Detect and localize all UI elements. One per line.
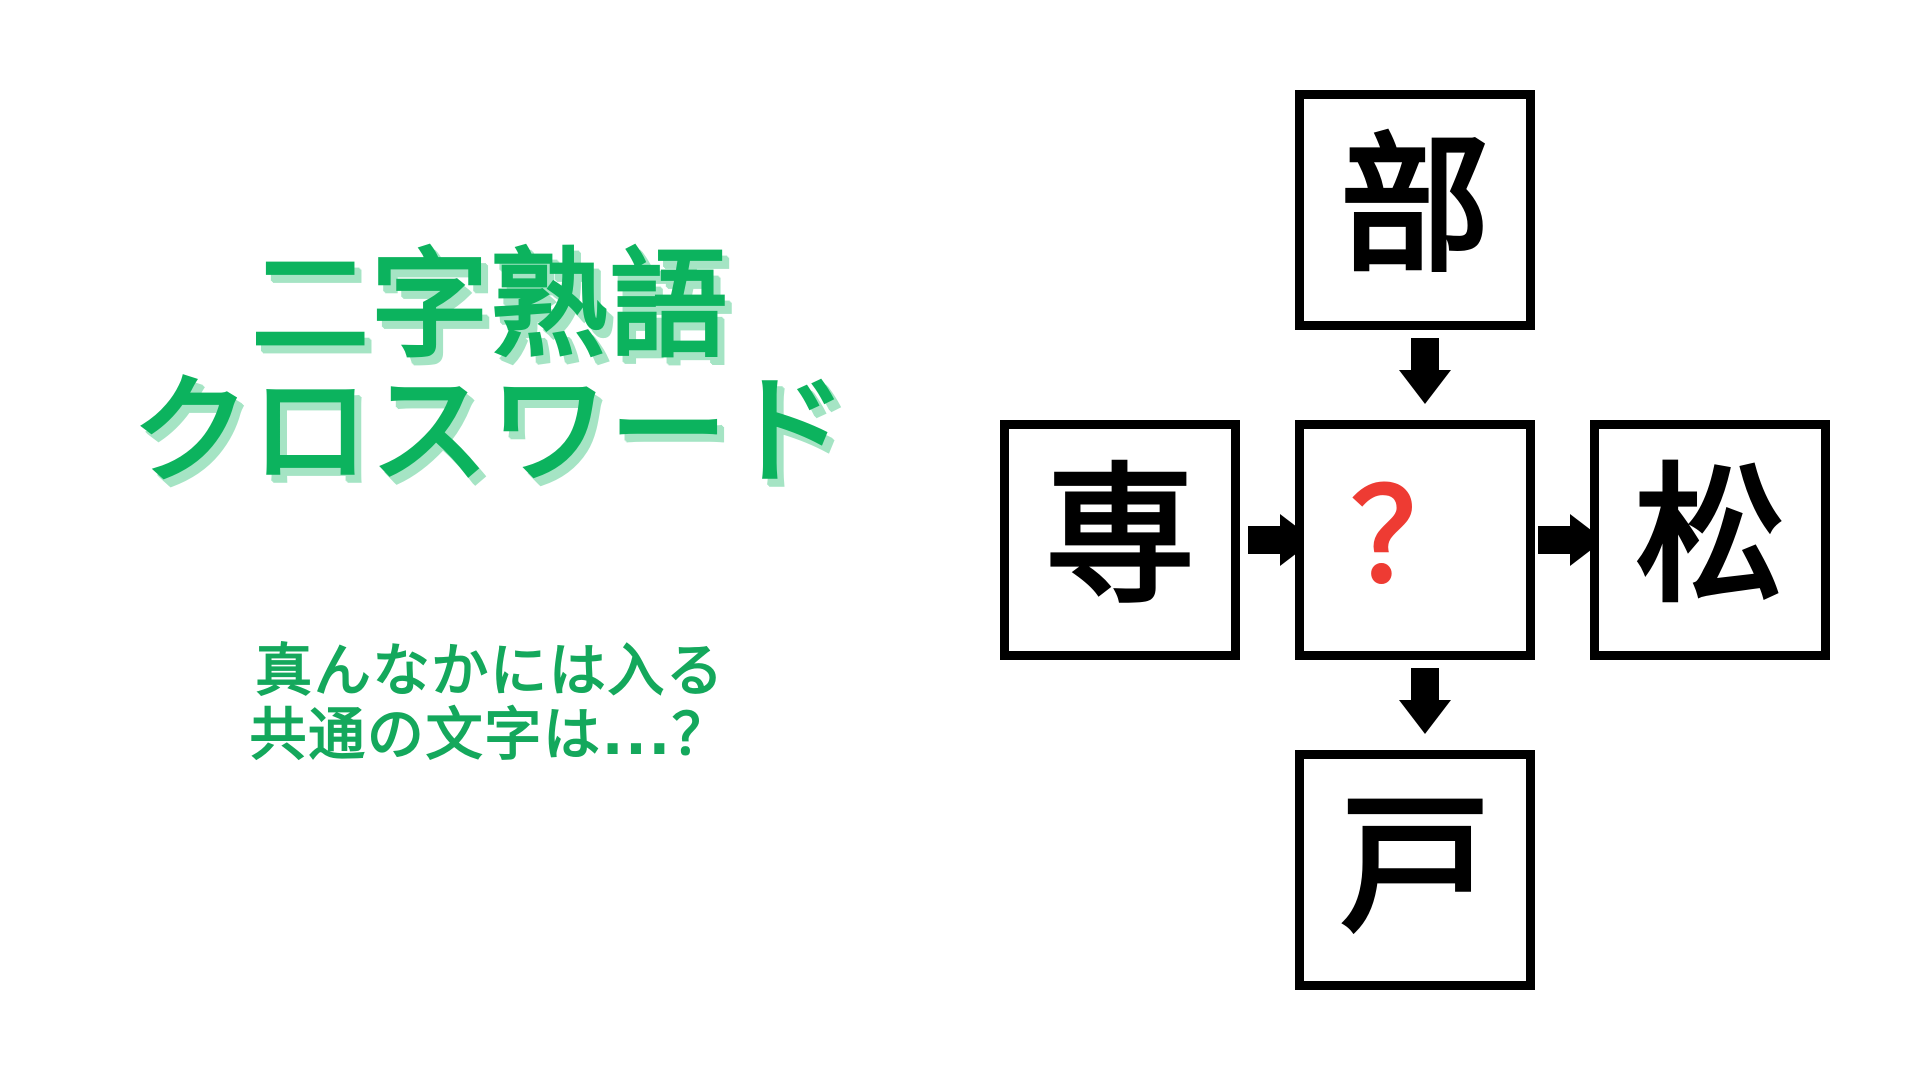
arrow-head <box>1399 700 1451 734</box>
title-panel: 二字熟語 クロスワード 真んなかには入る 共通の文字は...？ <box>0 0 980 1080</box>
page-title: 二字熟語 クロスワード <box>0 245 980 492</box>
subtitle-line-2: 共通の文字は...？ <box>0 704 980 768</box>
title-line-2: クロスワード <box>0 371 980 491</box>
arrow-shaft <box>1538 526 1572 554</box>
puzzle-cell-left[interactable]: 専 <box>1000 420 1240 660</box>
puzzle-cell-bottom-character: 戸 <box>1340 792 1490 942</box>
puzzle-cell-right[interactable]: 松 <box>1590 420 1830 660</box>
arrow-shaft <box>1248 526 1282 554</box>
arrow-down-icon-bottom <box>1395 668 1455 740</box>
arrow-down-icon-top <box>1395 338 1455 410</box>
puzzle-cell-top-character: 部 <box>1340 132 1490 282</box>
subtitle-line-1: 真んなかには入る <box>0 640 980 704</box>
slide-canvas: 二字熟語 クロスワード 真んなかには入る 共通の文字は...？ 部 専 ？ <box>0 0 1920 1080</box>
puzzle-cell-top[interactable]: 部 <box>1295 90 1535 330</box>
arrow-shaft <box>1411 668 1439 702</box>
question-mark-icon: ？ <box>1351 474 1479 602</box>
title-line-1: 二字熟語 <box>0 245 980 365</box>
subtitle: 真んなかには入る 共通の文字は...？ <box>0 640 980 768</box>
crossword-diagram: 部 専 ？ 松 戸 <box>960 0 1920 1080</box>
arrow-shaft <box>1411 338 1439 372</box>
puzzle-cell-bottom[interactable]: 戸 <box>1295 750 1535 990</box>
puzzle-cell-right-character: 松 <box>1635 462 1785 612</box>
puzzle-cell-center[interactable]: ？ <box>1295 420 1535 660</box>
arrow-head <box>1399 370 1451 404</box>
puzzle-cell-left-character: 専 <box>1045 462 1195 612</box>
